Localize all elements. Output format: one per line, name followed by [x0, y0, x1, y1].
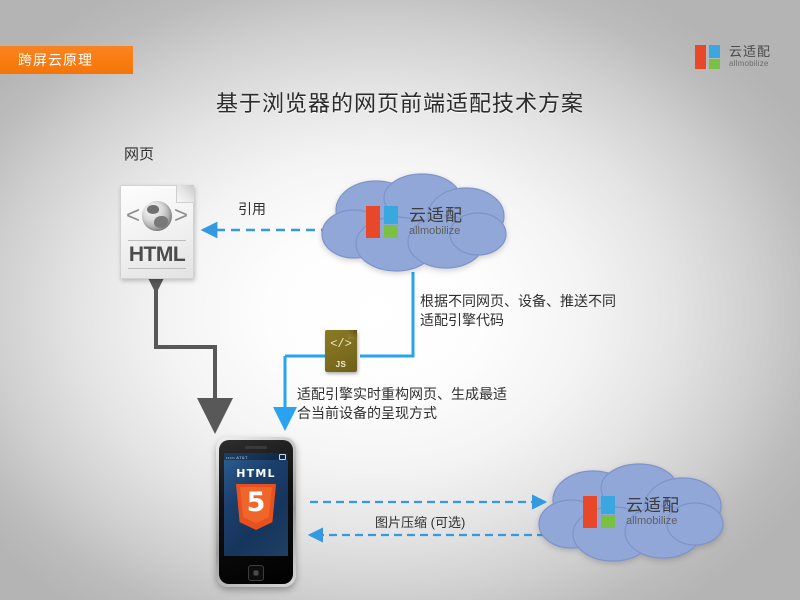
phone-statusbar: ••••• AT&T	[224, 453, 288, 460]
cloud-top-name-en: allmobilize	[409, 225, 463, 238]
brand-logo-text: 云适配 allmobilize	[729, 45, 771, 69]
cloud-top-logo-text: 云适配 allmobilize	[409, 207, 463, 238]
logo-blue-square	[384, 206, 398, 224]
html5-version-number: 5	[236, 489, 276, 516]
divider-top	[128, 240, 186, 241]
html5-shield-icon: 5	[236, 484, 276, 530]
logo-green-square	[709, 59, 720, 69]
push-note: 根据不同网页、设备、推送不同 适配引擎代码	[420, 292, 616, 330]
cloud-bottom-name-cn: 云适配	[626, 497, 680, 515]
compress-label: 图片压缩 (可选)	[375, 512, 465, 531]
battery-icon	[279, 454, 286, 460]
phone-body: ••••• AT&T HTML 5	[219, 440, 293, 584]
cloud-top-name-cn: 云适配	[409, 207, 463, 225]
globe-icon	[142, 201, 172, 231]
wire-html-up	[156, 290, 215, 347]
phone-screen[interactable]: ••••• AT&T HTML 5	[224, 453, 288, 556]
cloud-bottom-logo: 云适配 allmobilize	[583, 496, 680, 528]
cloud-top[interactable]: 云适配 allmobilize	[318, 172, 514, 276]
cloud-bottom-logo-marks	[583, 496, 619, 528]
slide-canvas: 跨屏云原理 云适配 allmobilize 基于浏览器的网页前端适配技术方案	[0, 0, 800, 600]
html5-logo: HTML 5	[224, 467, 288, 530]
logo-blue-square	[709, 45, 720, 58]
signal-icon: ••••• AT&T	[226, 455, 248, 460]
brand-name-en: allmobilize	[729, 59, 771, 69]
cloud-bottom-name-en: allmobilize	[626, 515, 680, 528]
cloud-bottom-logo-text: 云适配 allmobilize	[626, 497, 680, 528]
html5-wordmark: HTML	[224, 467, 288, 480]
code-brackets-icon: </>	[325, 337, 357, 351]
rebuild-note-line-2: 合当前设备的呈现方式	[297, 404, 507, 423]
cloud-bottom[interactable]: 云适配 allmobilize	[535, 462, 731, 566]
logo-green-square	[601, 515, 615, 528]
brand-logo-marks	[695, 45, 723, 69]
logo-red-bar	[695, 45, 706, 69]
js-file-icon[interactable]: </> JS	[325, 330, 357, 372]
html-file-icon[interactable]: < > HTML	[120, 185, 194, 279]
brand-name-cn: 云适配	[729, 45, 771, 59]
arrow-to-phone	[156, 347, 215, 430]
brand-logo: 云适配 allmobilize	[695, 44, 771, 70]
push-note-line-1: 根据不同网页、设备、推送不同	[420, 292, 616, 311]
divider-bottom	[128, 268, 186, 269]
angle-bracket-right-icon: >	[174, 204, 188, 228]
section-banner: 跨屏云原理	[0, 46, 133, 74]
rebuild-note-line-1: 适配引擎实时重构网页、生成最适	[297, 385, 507, 404]
rebuild-note: 适配引擎实时重构网页、生成最适 合当前设备的呈现方式	[297, 385, 507, 423]
slide-title: 基于浏览器的网页前端适配技术方案	[0, 86, 800, 118]
cloud-top-logo: 云适配 allmobilize	[366, 206, 463, 238]
angle-bracket-left-icon: <	[126, 204, 140, 228]
phone-device[interactable]: ••••• AT&T HTML 5	[216, 437, 296, 587]
push-note-line-2: 适配引擎代码	[420, 311, 616, 330]
logo-red-bar	[583, 496, 597, 528]
js-file-caption: JS	[325, 360, 357, 369]
cloud-top-logo-marks	[366, 206, 402, 238]
logo-blue-square	[601, 496, 615, 514]
html-file-caption: HTML	[121, 243, 193, 267]
html-file-glyphs: < >	[121, 194, 193, 238]
logo-green-square	[384, 225, 398, 238]
phone-home-button[interactable]	[248, 565, 264, 581]
wire-cloud-to-js	[360, 272, 413, 356]
webpage-label: 网页	[124, 143, 154, 164]
quote-label: 引用	[238, 199, 266, 219]
logo-red-bar	[366, 206, 380, 238]
phone-speaker	[245, 446, 267, 449]
